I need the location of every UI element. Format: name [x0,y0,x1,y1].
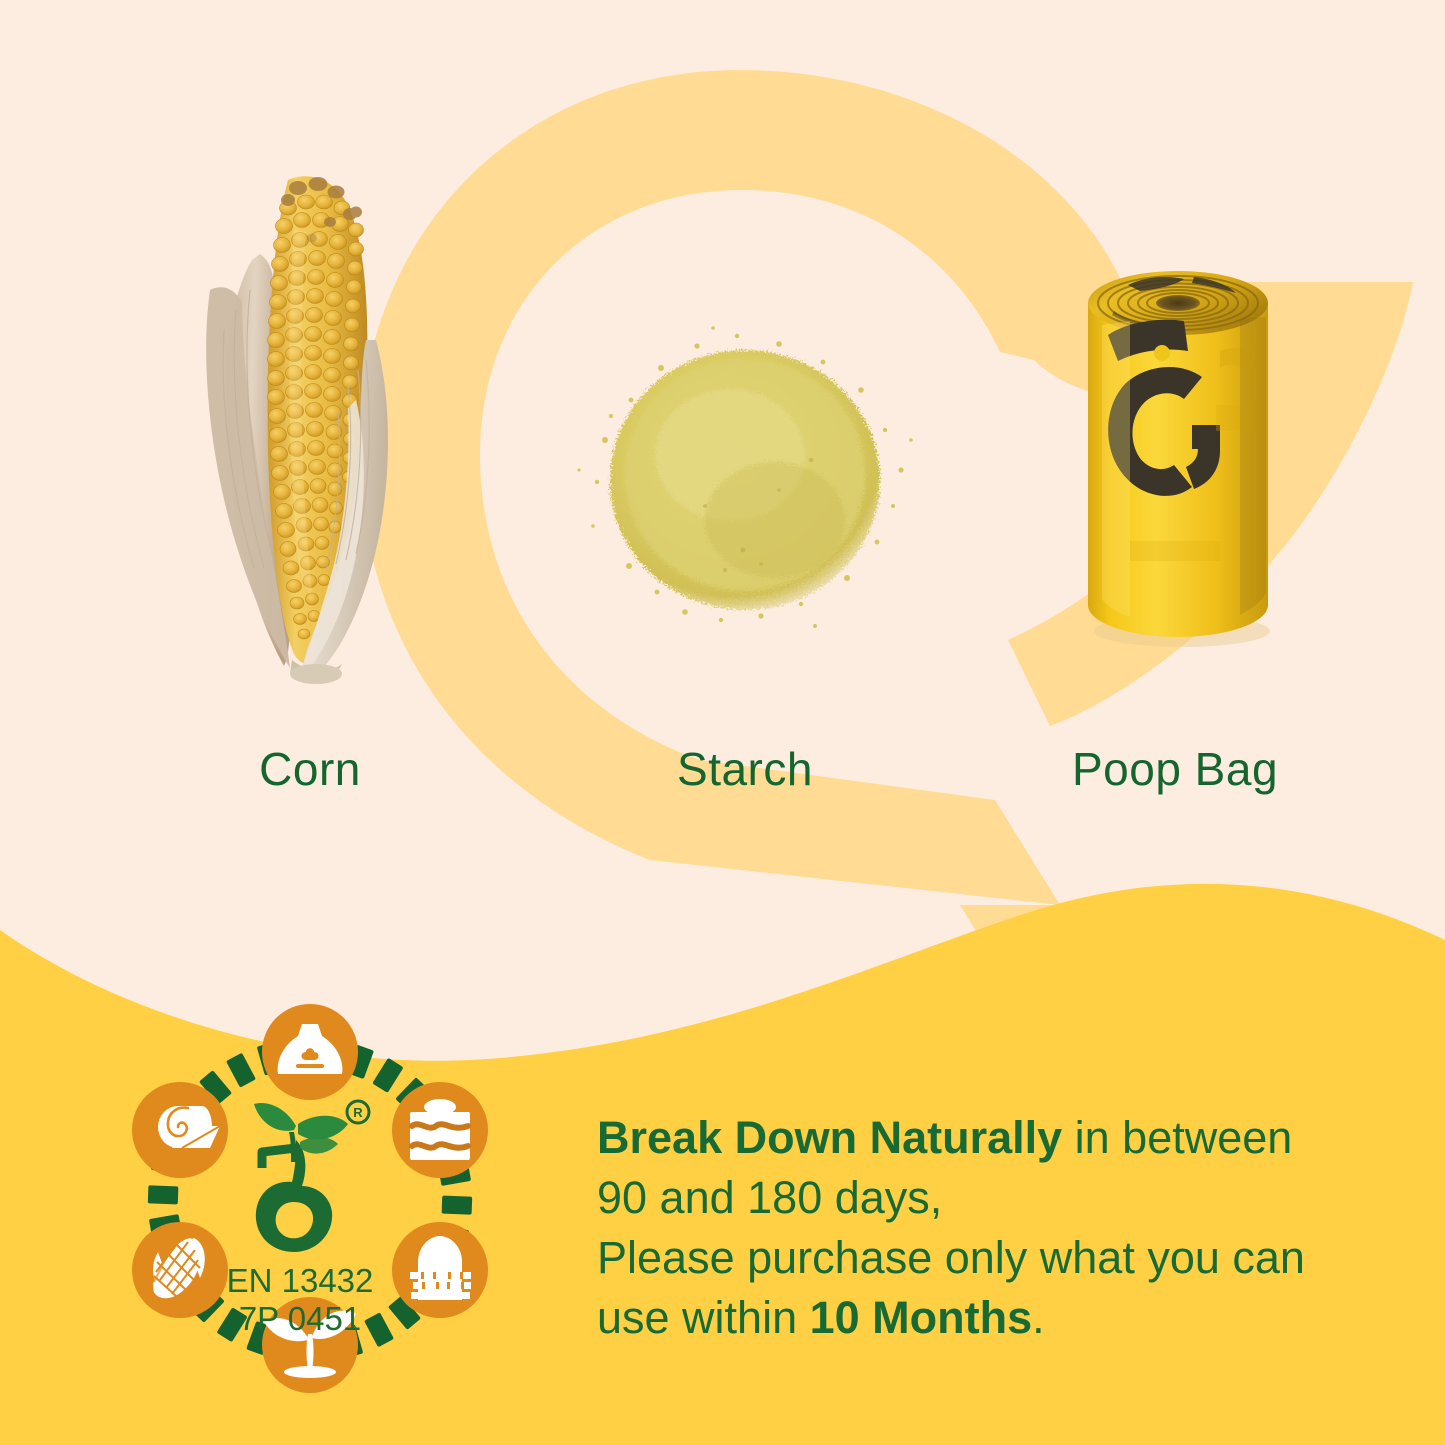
registered-trademark-icon: R [347,1101,369,1123]
claim-line-1: Break Down Naturally in between [597,1108,1387,1168]
claim-line-3: Please purchase only what you can [597,1228,1387,1288]
starch-powder-photo [565,320,925,630]
product-label-poop-bag: Poop Bag [1010,742,1340,796]
svg-text:R: R [353,1105,363,1120]
claim-line4-pre: use within [597,1292,810,1343]
claim-line1-rest: in between [1062,1112,1292,1163]
breakdown-claim-text: Break Down Naturally in between 90 and 1… [597,1108,1387,1348]
claim-bold-breakdown: Break Down Naturally [597,1112,1062,1163]
compost-layers-icon [392,1082,488,1178]
claim-line-4: use within 10 Months. [597,1288,1387,1348]
product-chain-row: Corn [0,0,1445,830]
product-label-corn: Corn [150,742,470,796]
poop-bag-roll-photo [1070,255,1285,655]
bag-of-waste-icon [262,1004,358,1100]
cert-standard-text: EN 13432 [227,1262,374,1299]
corn-cob-icon [132,1222,228,1318]
claim-line-2: 90 and 180 days, [597,1168,1387,1228]
film-roll-icon [132,1082,228,1178]
infographic-page: Corn [0,0,1445,1445]
corn-cob-photo [180,150,440,710]
decomposing-bag-icon [392,1222,488,1318]
claim-line4-post: . [1032,1292,1045,1343]
seedling-compostable-logo: R EN 13432 7P 0451 [227,1101,374,1337]
claim-bold-months: 10 Months [810,1292,1033,1343]
compostable-certification-badge: R EN 13432 7P 0451 [110,1000,510,1400]
product-label-starch: Starch [565,742,925,796]
cert-registration-text: 7P 0451 [239,1300,361,1337]
